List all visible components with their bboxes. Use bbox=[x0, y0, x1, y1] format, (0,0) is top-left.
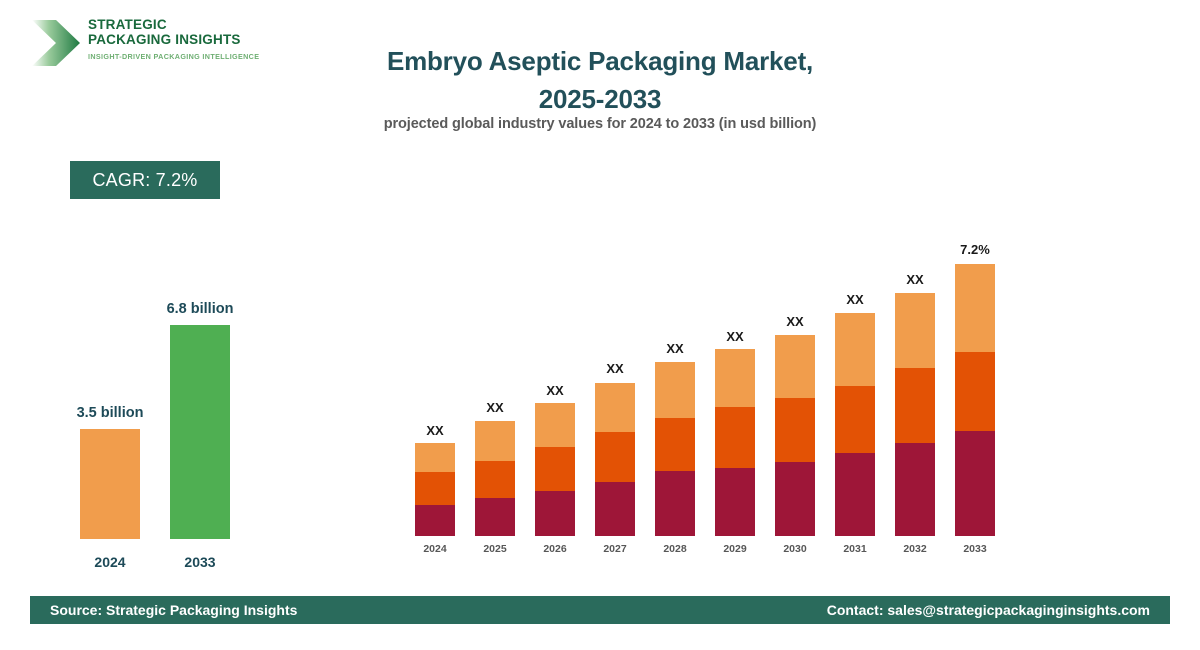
stacked-bar-x-label: 2033 bbox=[941, 543, 1009, 555]
stacked-bar-segment-segment-2 bbox=[415, 472, 455, 505]
stacked-bar-column: XX2026 bbox=[535, 196, 575, 556]
stacked-bar-x-label: 2032 bbox=[881, 543, 949, 555]
mini-bar-value-label: 6.8 billion bbox=[142, 301, 258, 317]
stacked-bar-segment-segment-1 bbox=[835, 453, 875, 536]
stacked-bar-segment-segment-3 bbox=[595, 383, 635, 432]
brand-tagline: INSIGHT-DRIVEN PACKAGING INTELLIGENCE bbox=[88, 52, 259, 61]
stacked-bar-segment-segment-3 bbox=[655, 362, 695, 418]
stacked-bar-segment-segment-3 bbox=[475, 421, 515, 461]
stacked-bar-value-label: XX bbox=[873, 272, 957, 287]
stacked-bar-segment-segment-3 bbox=[715, 349, 755, 407]
stacked-bar-column: XX2024 bbox=[415, 196, 455, 556]
stacked-bar-column: 7.2%2033 bbox=[955, 196, 995, 556]
cagr-badge-label: CAGR: 7.2% bbox=[92, 170, 197, 191]
stacked-bar-column: XX2031 bbox=[835, 196, 875, 556]
stacked-bar-segment-segment-3 bbox=[955, 264, 995, 352]
stacked-bar-value-label: XX bbox=[453, 400, 537, 415]
stacked-bar-column: XX2028 bbox=[655, 196, 695, 556]
page-title-line-1: Embryo Aseptic Packaging Market, bbox=[280, 42, 920, 80]
stacked-bar-column: XX2027 bbox=[595, 196, 635, 556]
stacked-bar-segment-segment-1 bbox=[475, 498, 515, 536]
stacked-bar-x-label: 2029 bbox=[701, 543, 769, 555]
stacked-bar-column: XX2025 bbox=[475, 196, 515, 556]
stacked-bar-segment-segment-3 bbox=[895, 293, 935, 368]
stacked-bar bbox=[475, 421, 515, 536]
stacked-bar-segment-segment-3 bbox=[775, 335, 815, 398]
brand-name: STRATEGIC PACKAGING INSIGHTS INSIGHT-DRI… bbox=[88, 17, 259, 61]
stacked-bar-x-label: 2024 bbox=[401, 543, 469, 555]
stacked-bar-segment-segment-1 bbox=[415, 505, 455, 536]
stacked-bar-segment-segment-1 bbox=[595, 482, 635, 536]
brand-name-line-2: PACKAGING INSIGHTS bbox=[88, 32, 259, 47]
footer-bar: Source: Strategic Packaging Insights Con… bbox=[30, 596, 1170, 624]
brand-name-line-1: STRATEGIC bbox=[88, 17, 259, 32]
page-title-line-2: 2025-2033 bbox=[280, 80, 920, 118]
stacked-bar bbox=[775, 335, 815, 536]
stacked-bar-segment-segment-1 bbox=[715, 468, 755, 536]
projected-market-forecast-chart: XX2024XX2025XX2026XX2027XX2028XX2029XX20… bbox=[406, 196, 1006, 556]
stacked-bar-segment-segment-1 bbox=[955, 431, 995, 536]
market-size-comparison-chart: 3.5 billion20246.8 billion2033 bbox=[60, 300, 290, 570]
stacked-bar-segment-segment-2 bbox=[715, 407, 755, 468]
stacked-bar-value-label: XX bbox=[573, 361, 657, 376]
stacked-bar-value-label: XX bbox=[513, 383, 597, 398]
mini-bar-x-label: 2024 bbox=[62, 554, 158, 570]
cagr-badge: CAGR: 7.2% bbox=[70, 161, 220, 199]
stacked-bar bbox=[595, 383, 635, 536]
stacked-bar-x-label: 2030 bbox=[761, 543, 829, 555]
stacked-bar-x-label: 2031 bbox=[821, 543, 889, 555]
stacked-bar-segment-segment-3 bbox=[535, 403, 575, 447]
stacked-bar-segment-segment-2 bbox=[535, 447, 575, 491]
mini-bar-value-label: 3.5 billion bbox=[52, 405, 168, 421]
stacked-bar-segment-segment-2 bbox=[475, 461, 515, 498]
stacked-bar-segment-segment-1 bbox=[535, 491, 575, 536]
stacked-bar-segment-segment-2 bbox=[835, 386, 875, 453]
stacked-bar-segment-segment-2 bbox=[655, 418, 695, 471]
footer-contact-label: Contact: sales@strategicpackaginginsight… bbox=[827, 602, 1150, 618]
stacked-bar-segment-segment-3 bbox=[415, 443, 455, 472]
stacked-bar-x-label: 2026 bbox=[521, 543, 589, 555]
infographic-canvas: STRATEGIC PACKAGING INSIGHTS INSIGHT-DRI… bbox=[0, 0, 1200, 650]
page-subtitle: projected global industry values for 202… bbox=[280, 116, 920, 132]
brand-logo: STRATEGIC PACKAGING INSIGHTS INSIGHT-DRI… bbox=[30, 14, 280, 76]
stacked-bar bbox=[835, 313, 875, 536]
stacked-bar-value-label: XX bbox=[393, 423, 477, 438]
green-chevron-icon bbox=[30, 18, 82, 68]
stacked-bar-segment-segment-2 bbox=[895, 368, 935, 443]
mini-bar bbox=[80, 429, 140, 539]
stacked-bar-segment-segment-2 bbox=[955, 352, 995, 431]
mini-bar bbox=[170, 325, 230, 539]
stacked-bar bbox=[535, 403, 575, 536]
stacked-bar-x-label: 2025 bbox=[461, 543, 529, 555]
stacked-bar-value-label: 7.2% bbox=[933, 242, 1017, 257]
mini-bar-column: 3.5 billion2024 bbox=[80, 300, 140, 570]
stacked-bar-segment-segment-1 bbox=[775, 462, 815, 536]
stacked-bar bbox=[715, 349, 755, 536]
stacked-bar-x-label: 2027 bbox=[581, 543, 649, 555]
footer-source-label: Source: Strategic Packaging Insights bbox=[50, 602, 297, 618]
stacked-bar-segment-segment-2 bbox=[595, 432, 635, 482]
stacked-bar bbox=[655, 362, 695, 536]
stacked-bar-segment-segment-2 bbox=[775, 398, 815, 462]
mini-bar-column: 6.8 billion2033 bbox=[170, 300, 230, 570]
stacked-bar bbox=[415, 443, 455, 536]
page-title: Embryo Aseptic Packaging Market, 2025-20… bbox=[280, 42, 920, 118]
stacked-bar-segment-segment-3 bbox=[835, 313, 875, 386]
stacked-bar-segment-segment-1 bbox=[895, 443, 935, 536]
stacked-bar-value-label: XX bbox=[753, 314, 837, 329]
stacked-bar bbox=[955, 264, 995, 536]
stacked-bar-value-label: XX bbox=[813, 292, 897, 307]
stacked-bar-x-label: 2028 bbox=[641, 543, 709, 555]
stacked-bar-column: XX2032 bbox=[895, 196, 935, 556]
mini-bar-x-label: 2033 bbox=[152, 554, 248, 570]
stacked-bar-value-label: XX bbox=[693, 329, 777, 344]
stacked-bar-segment-segment-1 bbox=[655, 471, 695, 536]
stacked-bar bbox=[895, 293, 935, 536]
stacked-bar-column: XX2030 bbox=[775, 196, 815, 556]
stacked-bar-column: XX2029 bbox=[715, 196, 755, 556]
